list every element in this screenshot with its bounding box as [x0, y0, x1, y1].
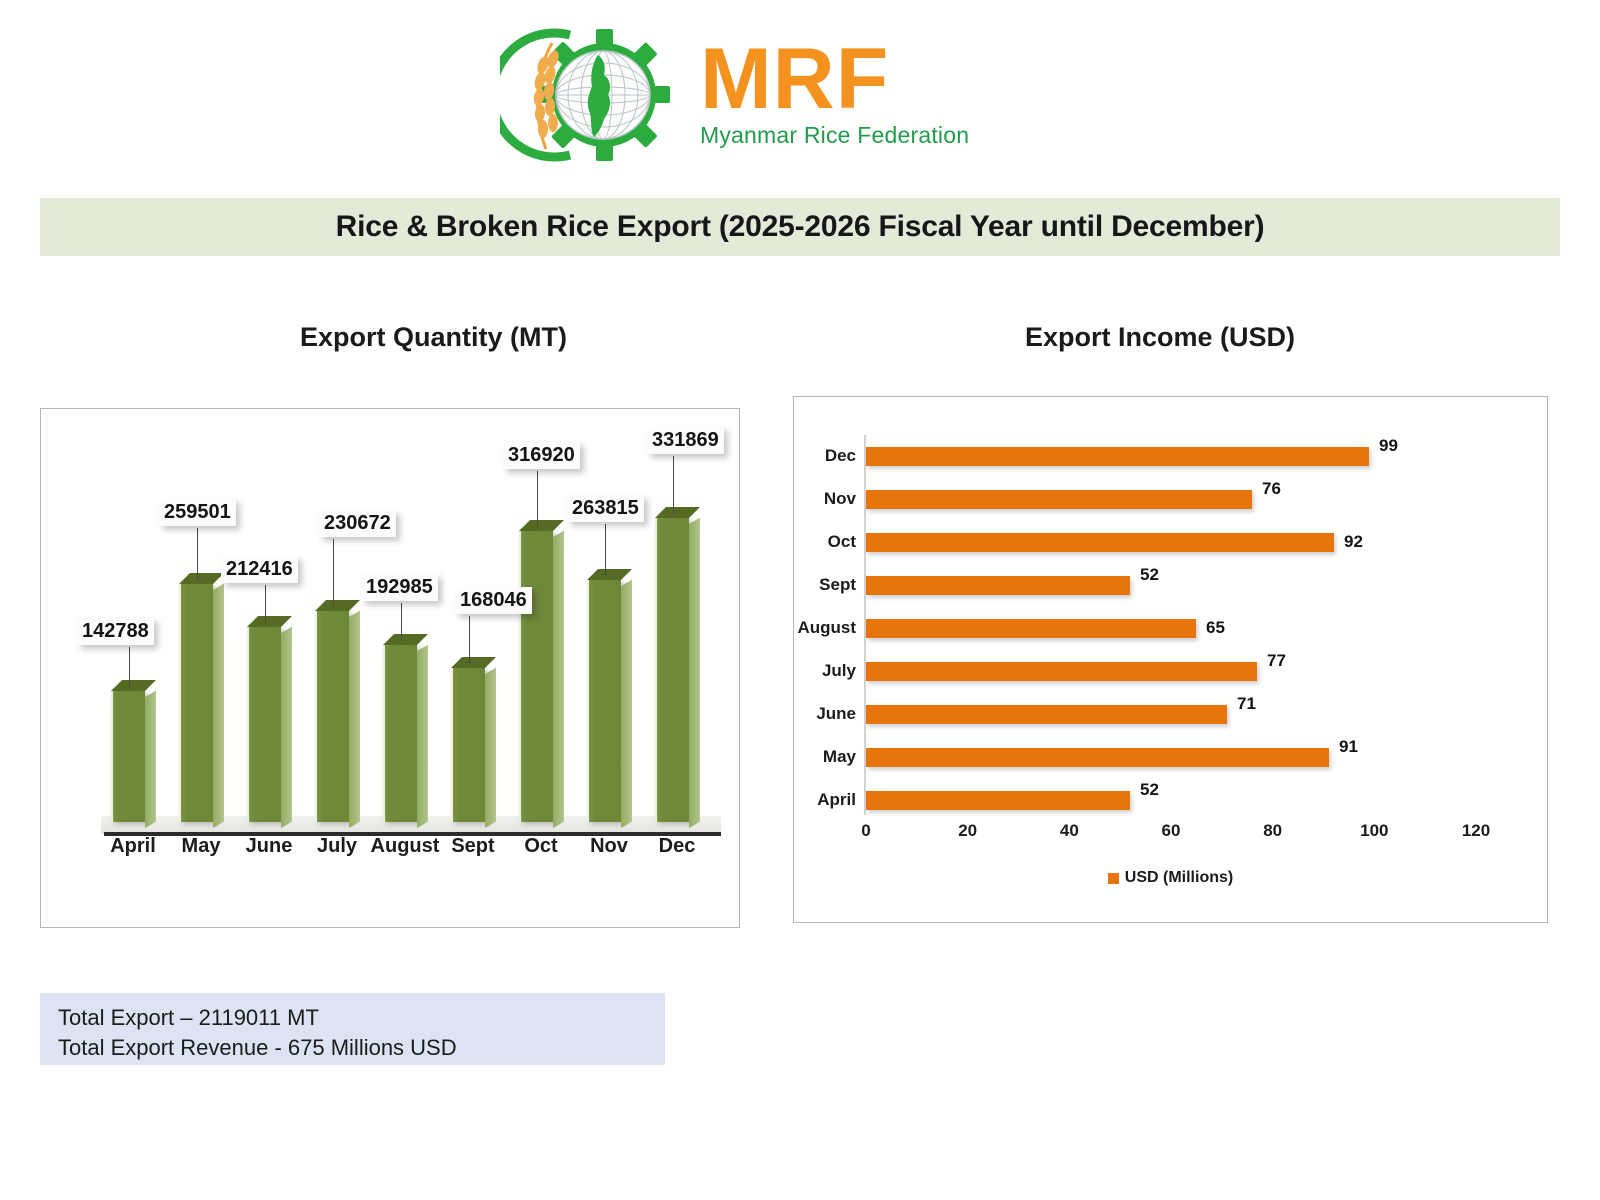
value-label-leader-line	[401, 603, 402, 641]
category-label: May	[165, 835, 237, 858]
logo-subtitle: Myanmar Rice Federation	[700, 123, 969, 148]
column-bar-top	[111, 680, 156, 691]
axis-tick-label: 100	[1360, 821, 1388, 841]
column-bar[interactable]	[519, 531, 553, 822]
category-label: June	[233, 835, 305, 858]
page-title-band: Rice & Broken Rice Export (2025-2026 Fis…	[40, 198, 1560, 256]
column-bar[interactable]	[655, 518, 689, 822]
bar-value-label: 91	[1339, 736, 1358, 778]
column-bar-top	[315, 600, 360, 611]
column-bar-edge	[519, 531, 521, 822]
category-label: Oct	[505, 835, 577, 858]
legend-label: USD (Millions)	[1125, 869, 1233, 887]
bar-row: Nov76	[794, 478, 1547, 520]
column-bar-top	[179, 573, 224, 584]
export-income-plot-area: 020406080100120 USD (Millions) Dec99Nov7…	[794, 397, 1547, 922]
value-axis-ticks: 020406080100120	[794, 821, 1547, 847]
bar-row: Sept52	[794, 564, 1547, 606]
column-group: May	[175, 584, 227, 822]
column-value-label: 263815	[567, 495, 644, 522]
axis-tick-label: 60	[1162, 821, 1181, 841]
column-value-label: 212416	[221, 556, 298, 583]
value-label-leader-line	[605, 524, 606, 576]
export-income-heading: Export Income (USD)	[1025, 322, 1295, 353]
page-title: Rice & Broken Rice Export (2025-2026 Fis…	[336, 210, 1265, 244]
total-revenue-line: Total Export Revenue - 675 Millions USD	[58, 1033, 647, 1063]
column-group: Dec	[651, 518, 703, 822]
column-bar-top	[655, 507, 700, 518]
column-bar-side	[281, 627, 292, 828]
bar-value-label: 71	[1237, 693, 1256, 735]
column-bar-top	[587, 569, 632, 580]
column-bar-edge	[587, 580, 589, 822]
bar-category-label: August	[794, 607, 856, 649]
bar-row: Oct92	[794, 521, 1547, 563]
column-bar-side	[213, 584, 224, 828]
column-bar[interactable]	[587, 580, 621, 822]
bar-category-label: April	[794, 779, 856, 821]
column-value-label: 259501	[159, 499, 236, 526]
column-bar-top	[519, 520, 564, 531]
mrf-globe-gear-rice-logo	[500, 25, 690, 165]
column-bar-top	[383, 634, 428, 645]
value-label-leader-line	[265, 585, 266, 623]
column-bar-edge	[383, 645, 385, 822]
income-bar[interactable]	[866, 490, 1252, 509]
column-bar[interactable]	[179, 584, 213, 822]
bar-category-label: May	[794, 736, 856, 778]
export-income-chart-panel: 020406080100120 USD (Millions) Dec99Nov7…	[793, 396, 1548, 923]
total-export-line: Total Export – 2119011 MT	[58, 1003, 647, 1033]
bar-category-label: July	[794, 650, 856, 692]
column-bar-edge	[247, 627, 249, 822]
column-group: June	[243, 627, 295, 822]
bar-value-label: 52	[1140, 779, 1159, 821]
bar-row: April52	[794, 779, 1547, 821]
bar-category-label: Dec	[794, 435, 856, 477]
chart-legend: USD (Millions)	[794, 869, 1547, 887]
bar-category-label: Sept	[794, 564, 856, 606]
category-label: Nov	[573, 835, 645, 858]
axis-tick-label: 0	[861, 821, 870, 841]
column-bar-edge	[451, 668, 453, 822]
column-bar[interactable]	[383, 645, 417, 822]
column-group: August	[379, 645, 431, 822]
bar-value-label: 76	[1262, 478, 1281, 520]
bar-row: August65	[794, 607, 1547, 649]
bar-row: July77	[794, 650, 1547, 692]
column-bar-top	[451, 657, 496, 668]
column-group: Sept	[447, 668, 499, 822]
axis-tick-label: 20	[958, 821, 977, 841]
column-bar-edge	[315, 611, 317, 822]
column-bar-edge	[111, 691, 113, 822]
bar-category-label: Oct	[794, 521, 856, 563]
column-bar-side	[349, 611, 360, 828]
mrf-logo: MRF Myanmar Rice Federation	[500, 22, 1000, 167]
column-group: Nov	[583, 580, 635, 822]
column-value-label: 192985	[361, 574, 438, 601]
income-bar[interactable]	[866, 619, 1196, 638]
category-label: August	[369, 835, 441, 858]
totals-summary-box: Total Export – 2119011 MT Total Export R…	[40, 993, 665, 1065]
column-bar-side	[621, 580, 632, 828]
column-bar[interactable]	[111, 691, 145, 822]
bar-row: June71	[794, 693, 1547, 735]
bar-value-label: 99	[1379, 435, 1398, 477]
column-value-label: 316920	[503, 442, 580, 469]
column-bar-side	[553, 531, 564, 828]
value-label-leader-line	[673, 456, 674, 514]
column-value-label: 230672	[319, 510, 396, 537]
income-bar[interactable]	[866, 533, 1334, 552]
value-label-leader-line	[197, 528, 198, 580]
column-bar-edge	[179, 584, 181, 822]
column-bar-top	[247, 616, 292, 627]
column-bar-side	[689, 518, 700, 828]
bar-category-label: Nov	[794, 478, 856, 520]
category-label: July	[301, 835, 373, 858]
value-label-leader-line	[333, 539, 334, 607]
column-bar-side	[485, 668, 496, 828]
axis-tick-label: 120	[1462, 821, 1490, 841]
axis-tick-label: 80	[1263, 821, 1282, 841]
income-bar[interactable]	[866, 748, 1329, 767]
export-quantity-heading: Export Quantity (MT)	[300, 322, 567, 353]
legend-swatch-icon	[1108, 873, 1119, 884]
income-bar[interactable]	[866, 576, 1130, 595]
column-group: Oct	[515, 531, 567, 822]
income-bar[interactable]	[866, 662, 1257, 681]
export-quantity-chart-panel: April142788May259501June212416July230672…	[40, 408, 740, 928]
column-bar[interactable]	[247, 627, 281, 822]
bar-value-label: 92	[1344, 521, 1363, 563]
value-label-leader-line	[129, 647, 130, 687]
column-value-label: 168046	[455, 587, 532, 614]
income-bar[interactable]	[866, 447, 1369, 466]
bar-value-label: 52	[1140, 564, 1159, 606]
column-bar-side	[417, 645, 428, 828]
column-bar-edge	[655, 518, 657, 822]
column-bar[interactable]	[451, 668, 485, 822]
logo-title: MRF	[700, 40, 969, 119]
column-bar-side	[145, 691, 156, 828]
bar-category-label: June	[794, 693, 856, 735]
export-quantity-plot-area: April142788May259501June212416July230672…	[71, 429, 721, 874]
bar-row: Dec99	[794, 435, 1547, 477]
income-bar[interactable]	[866, 791, 1130, 810]
column-value-label: 142788	[77, 618, 154, 645]
bar-value-label: 65	[1206, 607, 1225, 649]
category-label: April	[97, 835, 169, 858]
column-group: July	[311, 611, 363, 822]
category-label: Sept	[437, 835, 509, 858]
category-label: Dec	[641, 835, 713, 858]
axis-tick-label: 40	[1060, 821, 1079, 841]
column-value-label: 331869	[647, 427, 724, 454]
bar-value-label: 77	[1267, 650, 1286, 692]
column-bar[interactable]	[315, 611, 349, 822]
income-bar[interactable]	[866, 705, 1227, 724]
column-group: April	[107, 691, 159, 822]
value-label-leader-line	[469, 616, 470, 664]
bar-row: May91	[794, 736, 1547, 778]
value-label-leader-line	[537, 471, 538, 527]
